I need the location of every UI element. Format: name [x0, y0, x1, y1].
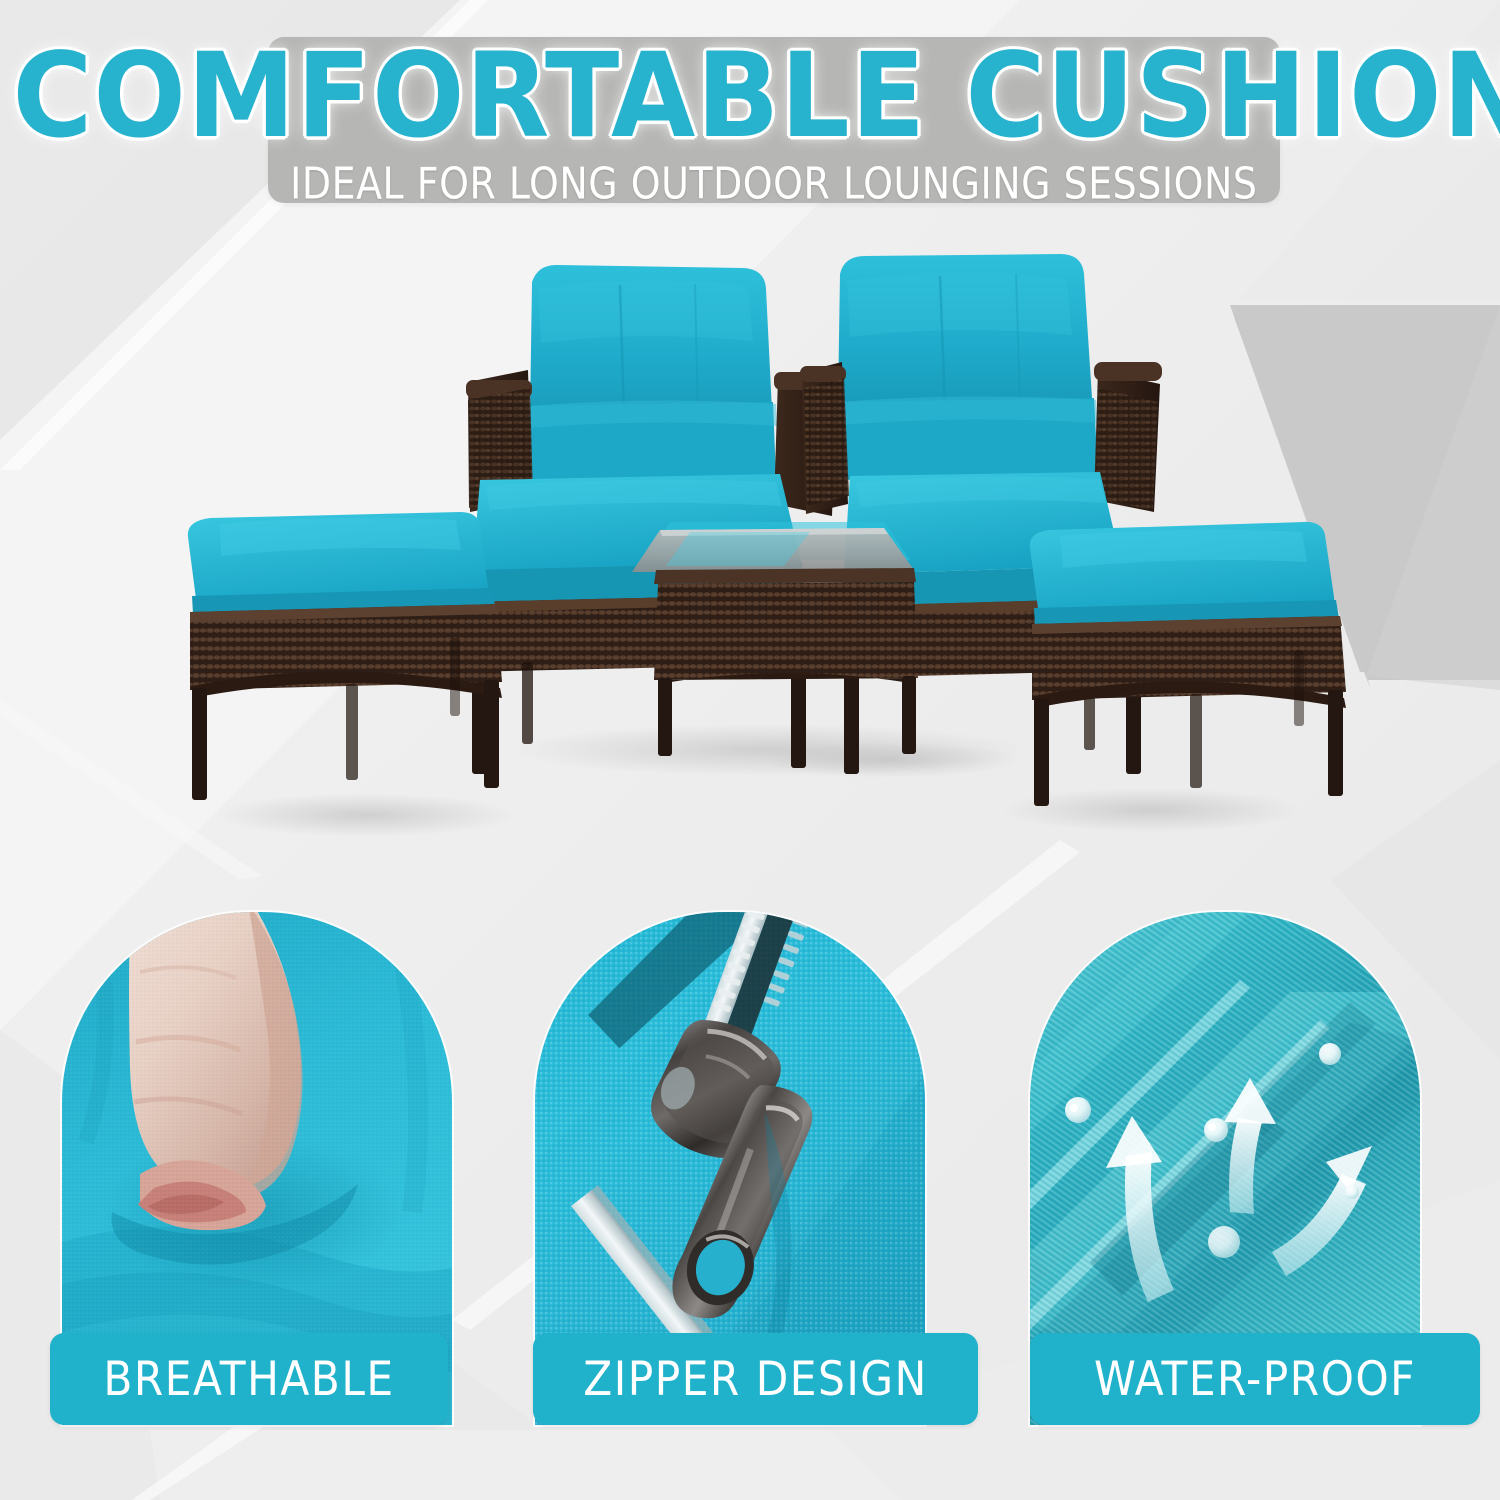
coffee-table: [632, 522, 918, 756]
feature-label-waterproof: WATER-PROOF: [1030, 1333, 1480, 1425]
header-banner: COMFORTABLE CUSHION IDEAL FOR LONG OUTDO…: [268, 37, 1280, 203]
left-chair: [466, 265, 838, 774]
hero-product-image: [150, 230, 1380, 870]
right-ottoman: [1030, 522, 1346, 806]
page-title: COMFORTABLE CUSHION: [13, 41, 1500, 153]
feature-label-zipper: ZIPPER DESIGN: [533, 1333, 978, 1425]
feature-label-breathable: BREATHABLE: [50, 1333, 448, 1425]
left-ottoman: [188, 512, 502, 800]
page-subtitle: IDEAL FOR LONG OUTDOOR LOUNGING SESSIONS: [290, 162, 1257, 206]
